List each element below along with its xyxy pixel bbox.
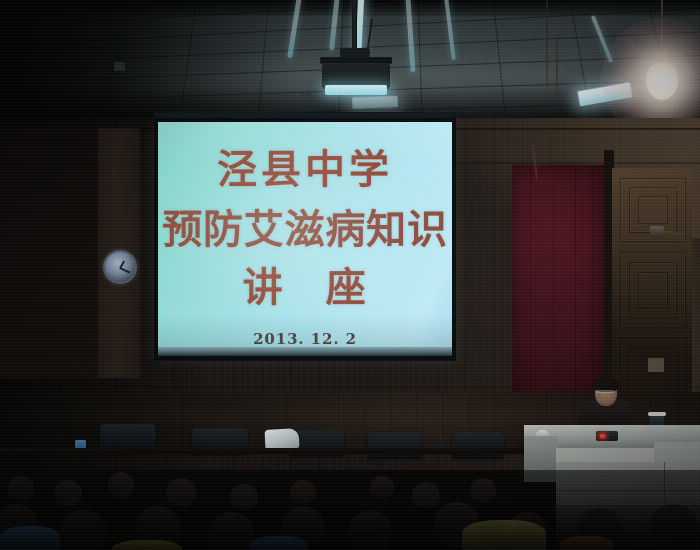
wall-plate — [648, 358, 664, 372]
stage-chair[interactable] — [452, 432, 504, 458]
audience-head — [8, 476, 34, 500]
decor-element — [120, 267, 131, 273]
projection-screen: 泾县中学 预防艾滋病知识 讲 座 2013. 12. 2 — [158, 122, 452, 356]
glasses-icon — [596, 390, 614, 393]
wall-clock-icon — [103, 250, 137, 284]
red-curtain-panel — [512, 165, 604, 413]
presenter-cup-lid — [648, 412, 666, 416]
white-bag-on-chair — [264, 428, 299, 450]
decor-element — [530, 165, 531, 413]
ceiling-vent-icon — [114, 62, 125, 71]
hanging-wire — [546, 0, 548, 92]
stage-chair[interactable] — [100, 424, 156, 450]
screen-bottom-bar — [158, 347, 452, 356]
decor-element — [553, 165, 554, 413]
light-bulb-icon — [646, 62, 678, 100]
stage-chair[interactable] — [368, 432, 422, 458]
auditorium-photo: 泾县中学 预防艾滋病知识 讲 座 2013. 12. 2 — [0, 0, 700, 550]
audience-head — [470, 478, 496, 502]
ceiling-vent-icon — [300, 92, 311, 101]
audience-head — [54, 480, 82, 506]
left-wall-panel — [0, 128, 98, 378]
hanging-wire — [556, 34, 558, 92]
projector-pole — [352, 0, 357, 52]
power-led-icon — [600, 434, 605, 438]
audience-head — [108, 472, 134, 498]
projector-lens-icon — [325, 85, 387, 95]
audience-head — [290, 480, 316, 504]
audience-head — [166, 478, 196, 506]
decor-element — [592, 165, 593, 413]
decor-element — [575, 165, 576, 413]
fluorescent-panel-icon — [352, 95, 398, 109]
stage-edge — [0, 448, 560, 454]
audience-head — [370, 476, 394, 498]
